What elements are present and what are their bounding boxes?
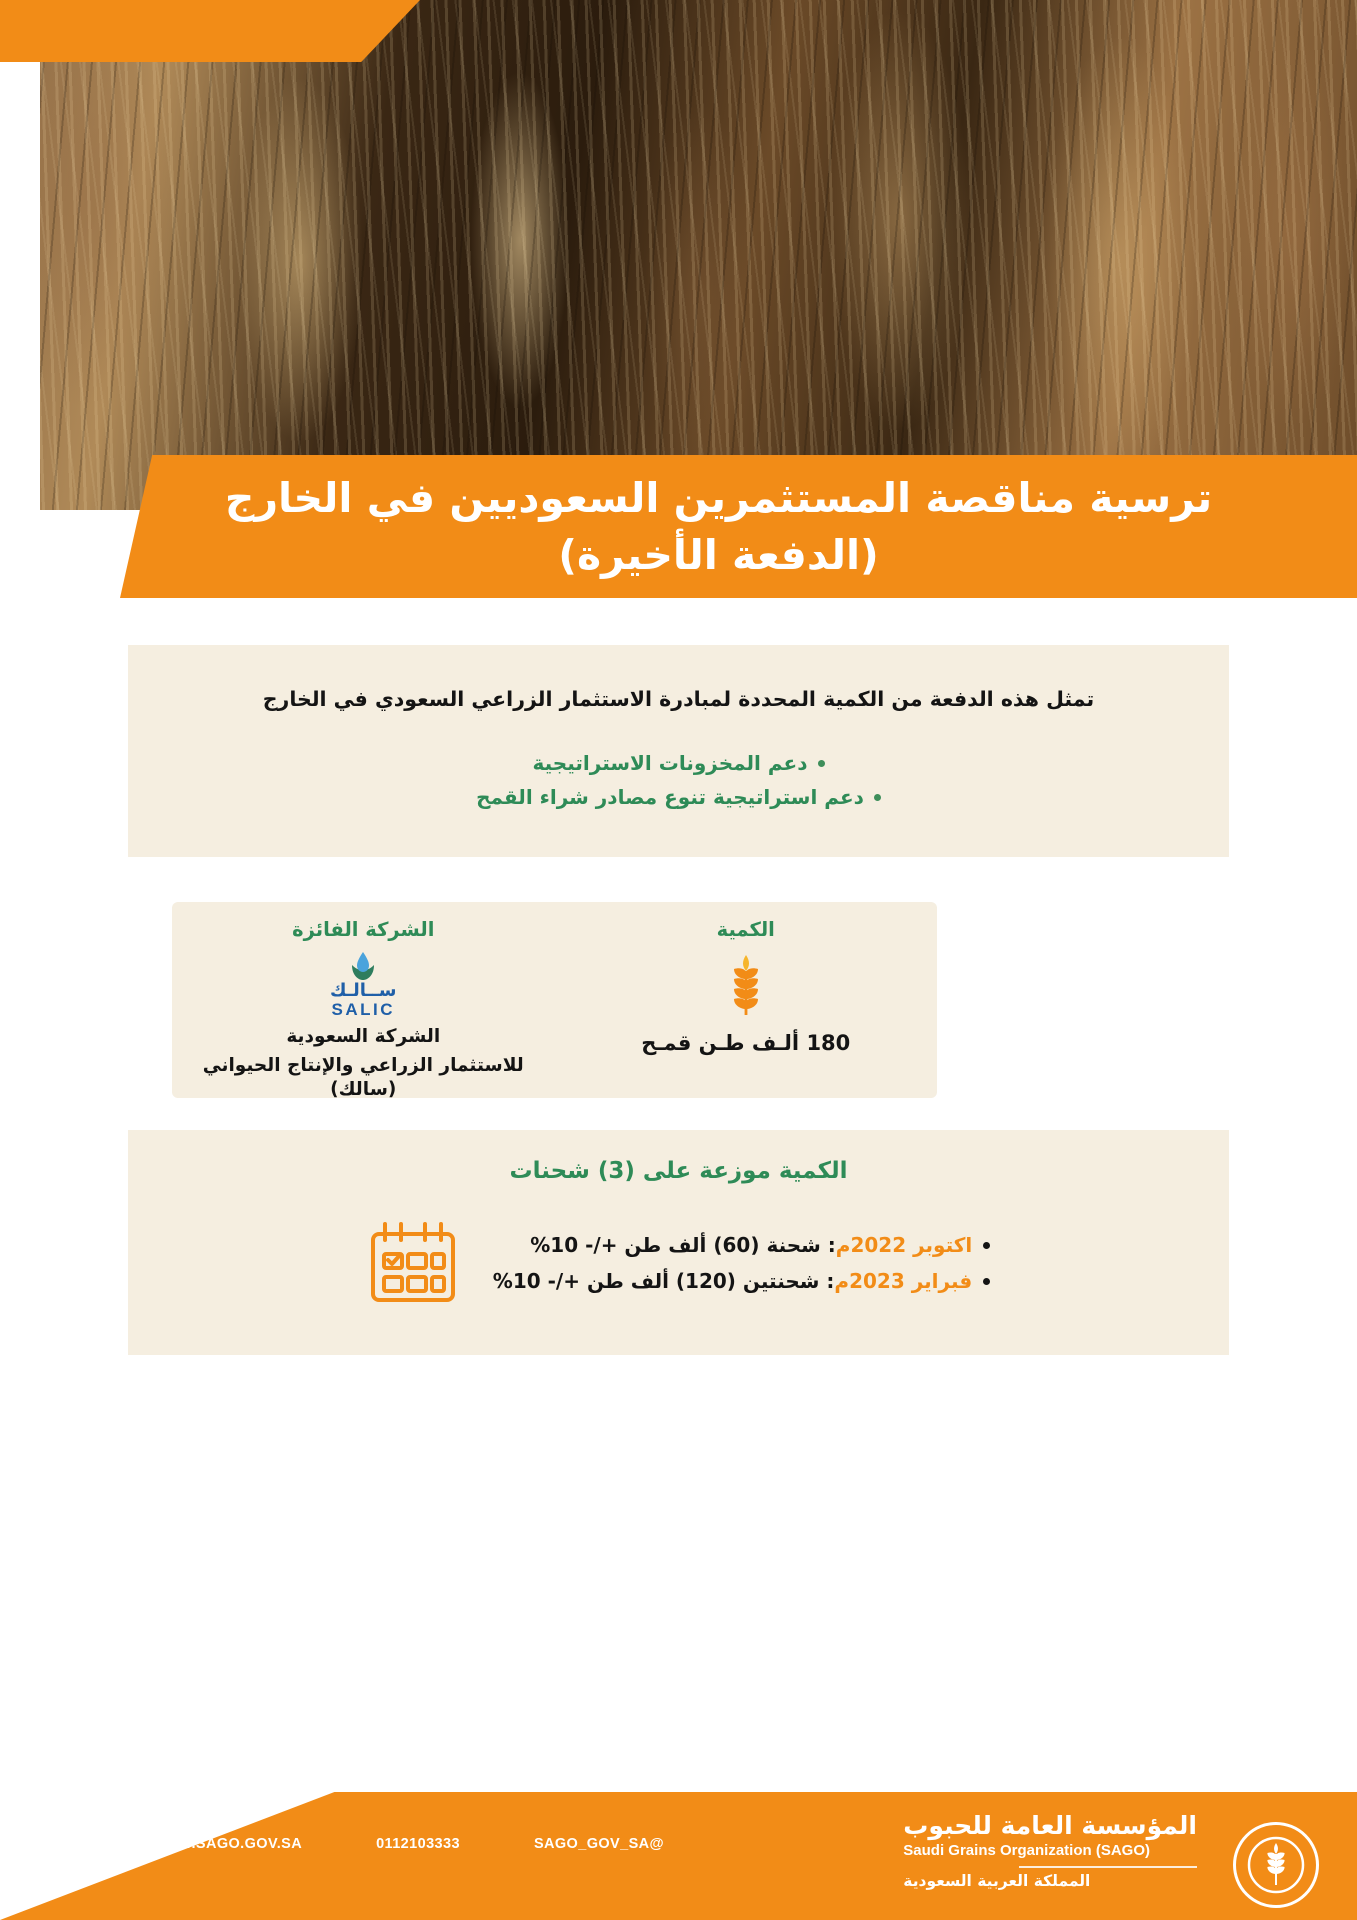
hero-wheat-image xyxy=(0,0,1357,510)
intro-card: تمثل هذه الدفعة من الكمية المحددة لمبادر… xyxy=(128,645,1229,857)
wheat-icon xyxy=(724,955,768,1017)
bullet-dot-icon xyxy=(983,1242,990,1249)
hero-left-margin xyxy=(0,0,40,510)
sago-seal-icon xyxy=(1233,1822,1319,1908)
bullet-dot-icon xyxy=(818,760,825,767)
salic-latin-wordmark: SALIC xyxy=(332,1000,396,1020)
footer-brand-arabic: المؤسسة العامة للحبوب xyxy=(903,1812,1197,1840)
footer-divider xyxy=(1019,1866,1197,1868)
title-banner: ترسية مناقصة المستثمرين السعوديين في الخ… xyxy=(120,455,1357,598)
salic-logo: ســالـك SALIC xyxy=(330,951,396,1020)
shipments-title: الكمية موزعة على (3) شحنات xyxy=(128,1158,1229,1184)
list-item: دعم استراتيجية تنوع مصادر شراء القمح xyxy=(128,785,1229,809)
bullet-dot-icon xyxy=(983,1278,990,1285)
winner-company-name-line-1: الشركة السعودية xyxy=(286,1025,440,1049)
footer-phone-number[interactable]: 0112103333 xyxy=(376,1836,460,1852)
bullet-dot-icon xyxy=(874,794,881,801)
shipment-month: فبراير 2023م xyxy=(834,1269,972,1293)
shipment-detail: : شحنتين (120) ألف طن +/- 10% xyxy=(493,1269,835,1293)
quantity-panel: الكمية 180 ألـف طـن قمـح xyxy=(555,902,938,1098)
winner-title: الشركة الفائزة xyxy=(292,918,434,941)
page-title-line-2: (الدفعة الأخيرة) xyxy=(120,527,1357,584)
intro-bullet-list: دعم المخزونات الاستراتيجية دعم استراتيجي… xyxy=(128,751,1229,809)
footer-contacts: @SAGO_GOV_SA 0112103333 WWW.SAGO.GOV.SA xyxy=(150,1836,664,1852)
salic-droplet-icon xyxy=(350,951,376,981)
intro-bullet-label: دعم المخزونات الاستراتيجية xyxy=(533,751,808,775)
winner-panel: الشركة الفائزة ســالـك SALIC الشركة السع… xyxy=(172,902,555,1098)
sago-emblem-icon xyxy=(1246,1835,1306,1895)
winner-company-name-line-2: للاستثمار الزراعي والإنتاج الحيواني (سال… xyxy=(172,1054,555,1102)
shipments-body: اكتوبر 2022م: شحنة (60) ألف طن +/- 10% ف… xyxy=(128,1220,1229,1306)
list-item: دعم المخزونات الاستراتيجية xyxy=(128,751,1229,775)
shipments-card: الكمية موزعة على (3) شحنات اكتوبر 2022م:… xyxy=(128,1130,1229,1355)
page-title-line-1: ترسية مناقصة المستثمرين السعوديين في الخ… xyxy=(120,470,1357,527)
hero-top-left-orange-tab xyxy=(0,0,420,62)
shipment-entry: فبراير 2023م: شحنتين (120) ألف طن +/- 10… xyxy=(493,1269,972,1293)
quantity-value: 180 ألـف طـن قمـح xyxy=(641,1031,850,1055)
calendar-icon xyxy=(367,1220,459,1306)
shipment-entry: اكتوبر 2022م: شحنة (60) ألف طن +/- 10% xyxy=(530,1233,972,1257)
shipment-detail: : شحنة (60) ألف طن +/- 10% xyxy=(530,1233,836,1257)
footer-social-handle[interactable]: @SAGO_GOV_SA xyxy=(534,1836,664,1852)
quantity-title: الكمية xyxy=(717,918,775,941)
shipment-month: اكتوبر 2022م xyxy=(836,1233,972,1257)
shipments-list: اكتوبر 2022م: شحنة (60) ألف طن +/- 10% ف… xyxy=(493,1233,990,1293)
intro-heading: تمثل هذه الدفعة من الكمية المحددة لمبادر… xyxy=(128,687,1229,711)
footer-brand: المؤسسة العامة للحبوب Saudi Grains Organ… xyxy=(903,1812,1197,1890)
salic-arabic-wordmark: ســالـك xyxy=(330,982,396,1000)
footer-website-url[interactable]: WWW.SAGO.GOV.SA xyxy=(150,1836,302,1852)
footer-kingdom-label: المملكة العربية السعودية xyxy=(903,1872,1197,1890)
details-card: الكمية 180 ألـف طـن قمـح الشركة الفائزة … xyxy=(172,902,937,1098)
intro-bullet-label: دعم استراتيجية تنوع مصادر شراء القمح xyxy=(476,785,864,809)
list-item: اكتوبر 2022م: شحنة (60) ألف طن +/- 10% xyxy=(493,1233,990,1257)
footer-brand-english: Saudi Grains Organization (SAGO) xyxy=(903,1840,1197,1863)
list-item: فبراير 2023م: شحنتين (120) ألف طن +/- 10… xyxy=(493,1269,990,1293)
